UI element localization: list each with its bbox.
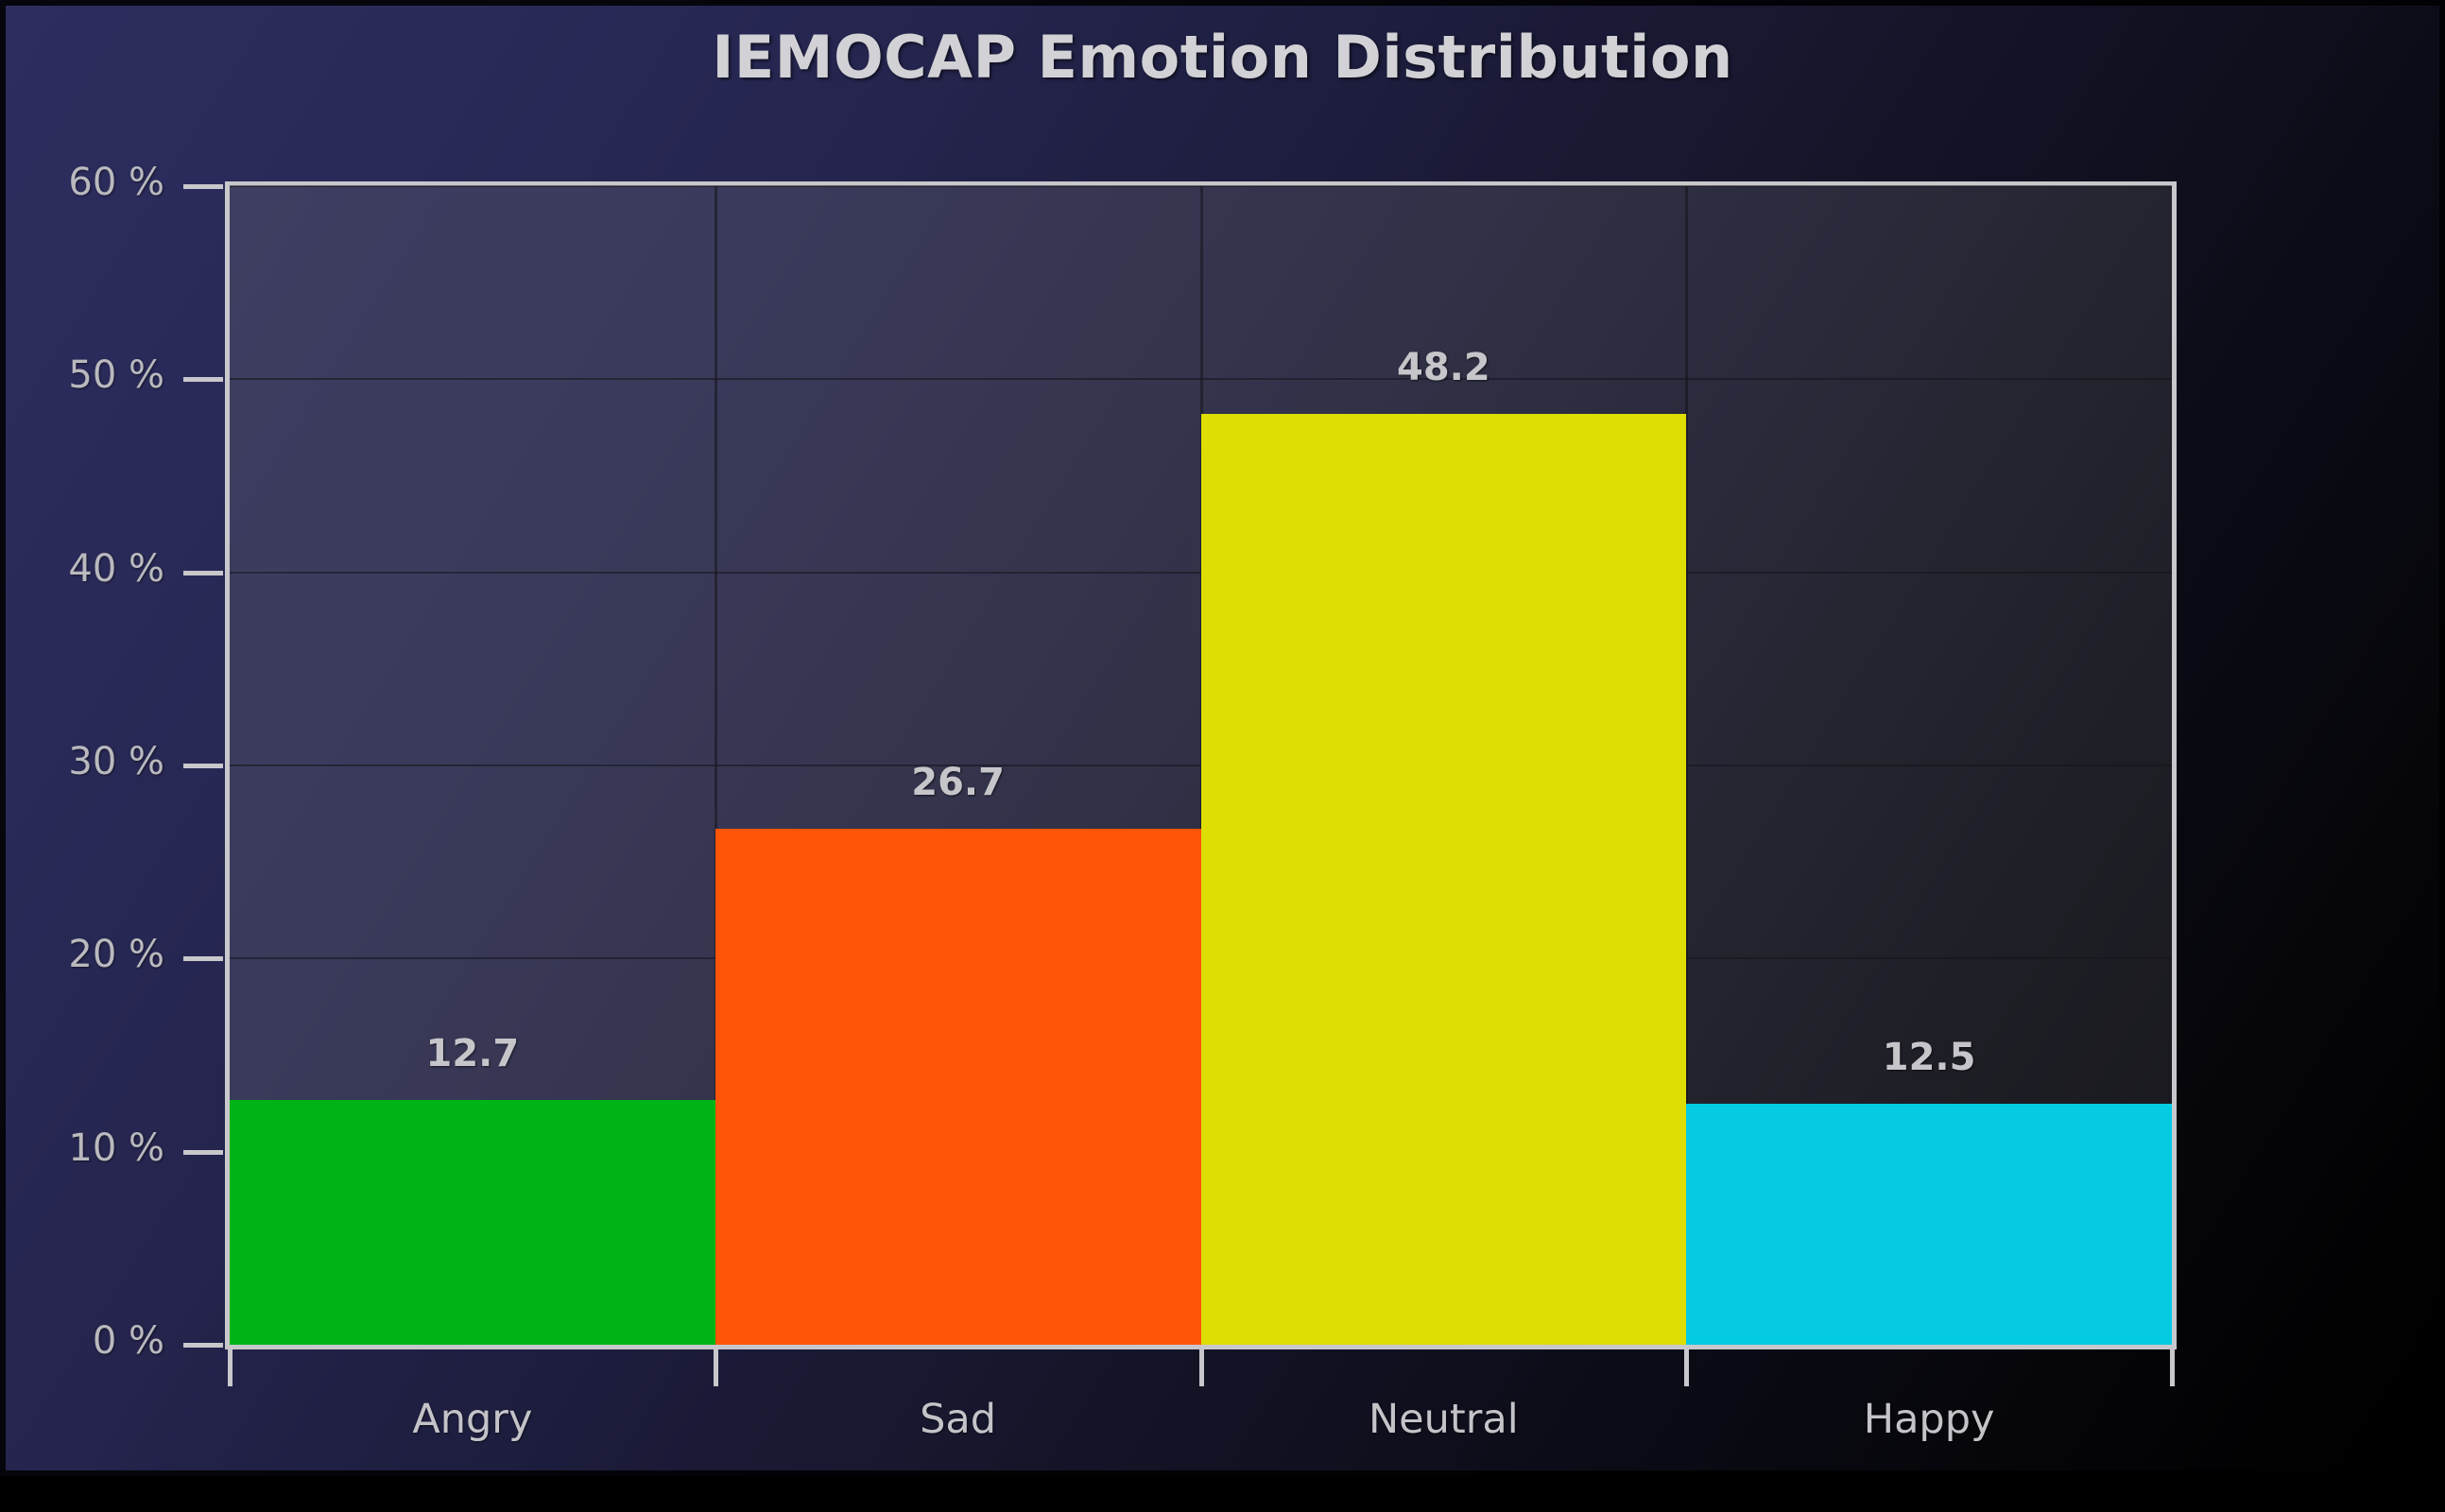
y-tick-mark bbox=[183, 377, 223, 382]
chart-title: IEMOCAP Emotion Distribution bbox=[0, 23, 2445, 92]
y-tick-label: 10 % bbox=[0, 1126, 164, 1170]
y-tick-label: 40 % bbox=[0, 547, 164, 591]
bar-value-label-happy: 12.5 bbox=[1686, 1036, 2172, 1079]
x-tick-mark bbox=[228, 1345, 232, 1386]
bar-sad[interactable] bbox=[715, 829, 1201, 1345]
bar-value-label-sad: 26.7 bbox=[715, 761, 1201, 804]
bar-neutral[interactable] bbox=[1201, 414, 1687, 1345]
bar-value-label-angry: 12.7 bbox=[230, 1032, 715, 1075]
y-tick-mark bbox=[183, 764, 223, 768]
y-tick-label: 50 % bbox=[0, 353, 164, 397]
x-tick-mark bbox=[2170, 1345, 2175, 1386]
x-tick-label-angry: Angry bbox=[230, 1396, 715, 1443]
x-tick-mark bbox=[1684, 1345, 1689, 1386]
x-tick-label-neutral: Neutral bbox=[1201, 1396, 1687, 1443]
y-tick-mark bbox=[183, 1343, 223, 1348]
chart-root: IEMOCAP Emotion Distribution 0 %10 %20 %… bbox=[0, 0, 2445, 1512]
y-tick-mark bbox=[183, 1150, 223, 1155]
bar-angry[interactable] bbox=[230, 1100, 715, 1346]
y-tick-label: 60 % bbox=[0, 161, 164, 204]
plot-area: 12.726.748.212.5 bbox=[225, 181, 2177, 1349]
x-tick-label-happy: Happy bbox=[1686, 1396, 2172, 1443]
bar-happy[interactable] bbox=[1686, 1104, 2172, 1345]
chart-canvas: IEMOCAP Emotion Distribution 0 %10 %20 %… bbox=[0, 0, 2445, 1476]
bar-value-label-neutral: 48.2 bbox=[1201, 346, 1687, 389]
x-tick-mark bbox=[714, 1345, 718, 1386]
plot-inner: 12.726.748.212.5 bbox=[230, 186, 2172, 1345]
y-tick-mark bbox=[183, 184, 223, 189]
x-tick-mark bbox=[1199, 1345, 1204, 1386]
y-tick-mark bbox=[183, 956, 223, 961]
x-tick-label-sad: Sad bbox=[715, 1396, 1201, 1443]
y-tick-label: 0 % bbox=[0, 1319, 164, 1363]
y-tick-label: 30 % bbox=[0, 740, 164, 783]
y-tick-label: 20 % bbox=[0, 933, 164, 976]
y-tick-mark bbox=[183, 571, 223, 576]
